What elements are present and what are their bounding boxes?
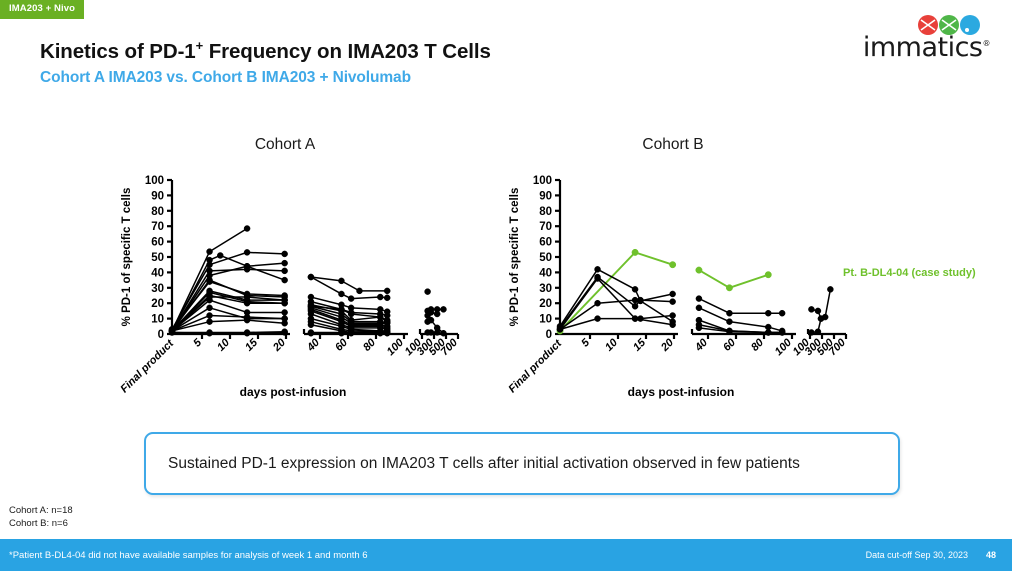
logo-wordmark-text: immatics xyxy=(863,32,983,63)
chart-title-cohort-a: Cohort A xyxy=(110,136,460,154)
logo-wordmark: immatics® xyxy=(863,32,990,63)
legend-case-study: Pt. B-DL4-04 (case study) xyxy=(843,267,976,279)
slide-footer: *Patient B-DL4-04 did not have available… xyxy=(0,539,1012,571)
slide-root: IMA203 + Nivo Kinetics of PD-1+ Frequenc… xyxy=(0,0,1012,571)
svg-text:Final product: Final product xyxy=(118,337,177,396)
section-tag: IMA203 + Nivo xyxy=(0,0,84,19)
key-message-callout: Sustained PD-1 expression on IMA203 T ce… xyxy=(144,432,900,495)
svg-text:100: 100 xyxy=(533,175,552,187)
cohort-n-notes: Cohort A: n=18 Cohort B: n=6 xyxy=(9,505,73,531)
svg-text:90: 90 xyxy=(539,190,552,202)
page-title-superscript: + xyxy=(196,38,204,53)
svg-text:100: 100 xyxy=(773,336,795,358)
cohort-b-n: Cohort B: n=6 xyxy=(9,518,73,531)
svg-text:0: 0 xyxy=(158,329,164,341)
svg-text:days post-infusion: days post-infusion xyxy=(628,385,735,399)
page-title-rest: Frequency on IMA203 T Cells xyxy=(203,40,491,63)
svg-text:80: 80 xyxy=(151,206,164,218)
svg-text:40: 40 xyxy=(151,267,164,279)
svg-text:days post-infusion: days post-infusion xyxy=(240,385,347,399)
svg-text:20: 20 xyxy=(539,298,552,310)
svg-text:50: 50 xyxy=(539,252,552,264)
footer-page-number: 48 xyxy=(986,550,996,560)
cohort-a-n: Cohort A: n=18 xyxy=(9,505,73,518)
svg-text:50: 50 xyxy=(151,252,164,264)
svg-text:40: 40 xyxy=(539,267,552,279)
svg-text:10: 10 xyxy=(151,314,164,326)
svg-text:Final product: Final product xyxy=(506,337,565,396)
immatics-logo: immatics® xyxy=(870,14,990,66)
svg-text:0: 0 xyxy=(546,329,552,341)
svg-text:80: 80 xyxy=(539,206,552,218)
svg-text:60: 60 xyxy=(151,237,164,249)
svg-text:10: 10 xyxy=(539,314,552,326)
page-title-main: Kinetics of PD-1 xyxy=(40,40,196,63)
footer-data-cutoff: Data cut-off Sep 30, 2023 xyxy=(866,550,968,560)
svg-text:100: 100 xyxy=(385,336,407,358)
svg-text:90: 90 xyxy=(151,190,164,202)
svg-text:30: 30 xyxy=(539,283,552,295)
page-subtitle: Cohort A IMA203 vs. Cohort B IMA203 + Ni… xyxy=(40,69,411,87)
footer-note: *Patient B-DL4-04 did not have available… xyxy=(9,550,368,561)
svg-text:70: 70 xyxy=(539,221,552,233)
logo-registered-mark: ® xyxy=(983,39,991,48)
svg-text:30: 30 xyxy=(151,283,164,295)
svg-text:60: 60 xyxy=(539,237,552,249)
page-title: Kinetics of PD-1+ Frequency on IMA203 T … xyxy=(40,38,491,64)
key-message-text: Sustained PD-1 expression on IMA203 T ce… xyxy=(146,455,800,473)
plot-cohort-a: 0102030405060708090100510152040608010010… xyxy=(110,172,460,402)
plot-cohort-b: 0102030405060708090100510152040608010010… xyxy=(498,172,848,402)
svg-text:% PD-1 of specific T cells: % PD-1 of specific T cells xyxy=(121,188,133,327)
chart-panel-cohort-b: Cohort B 0102030405060708090100510152040… xyxy=(498,136,848,406)
svg-text:20: 20 xyxy=(151,298,164,310)
chart-panel-cohort-a: Cohort A 0102030405060708090100510152040… xyxy=(110,136,460,406)
svg-text:% PD-1 of specific T cells: % PD-1 of specific T cells xyxy=(509,188,521,327)
chart-title-cohort-b: Cohort B xyxy=(498,136,848,154)
svg-text:100: 100 xyxy=(145,175,164,187)
svg-text:70: 70 xyxy=(151,221,164,233)
